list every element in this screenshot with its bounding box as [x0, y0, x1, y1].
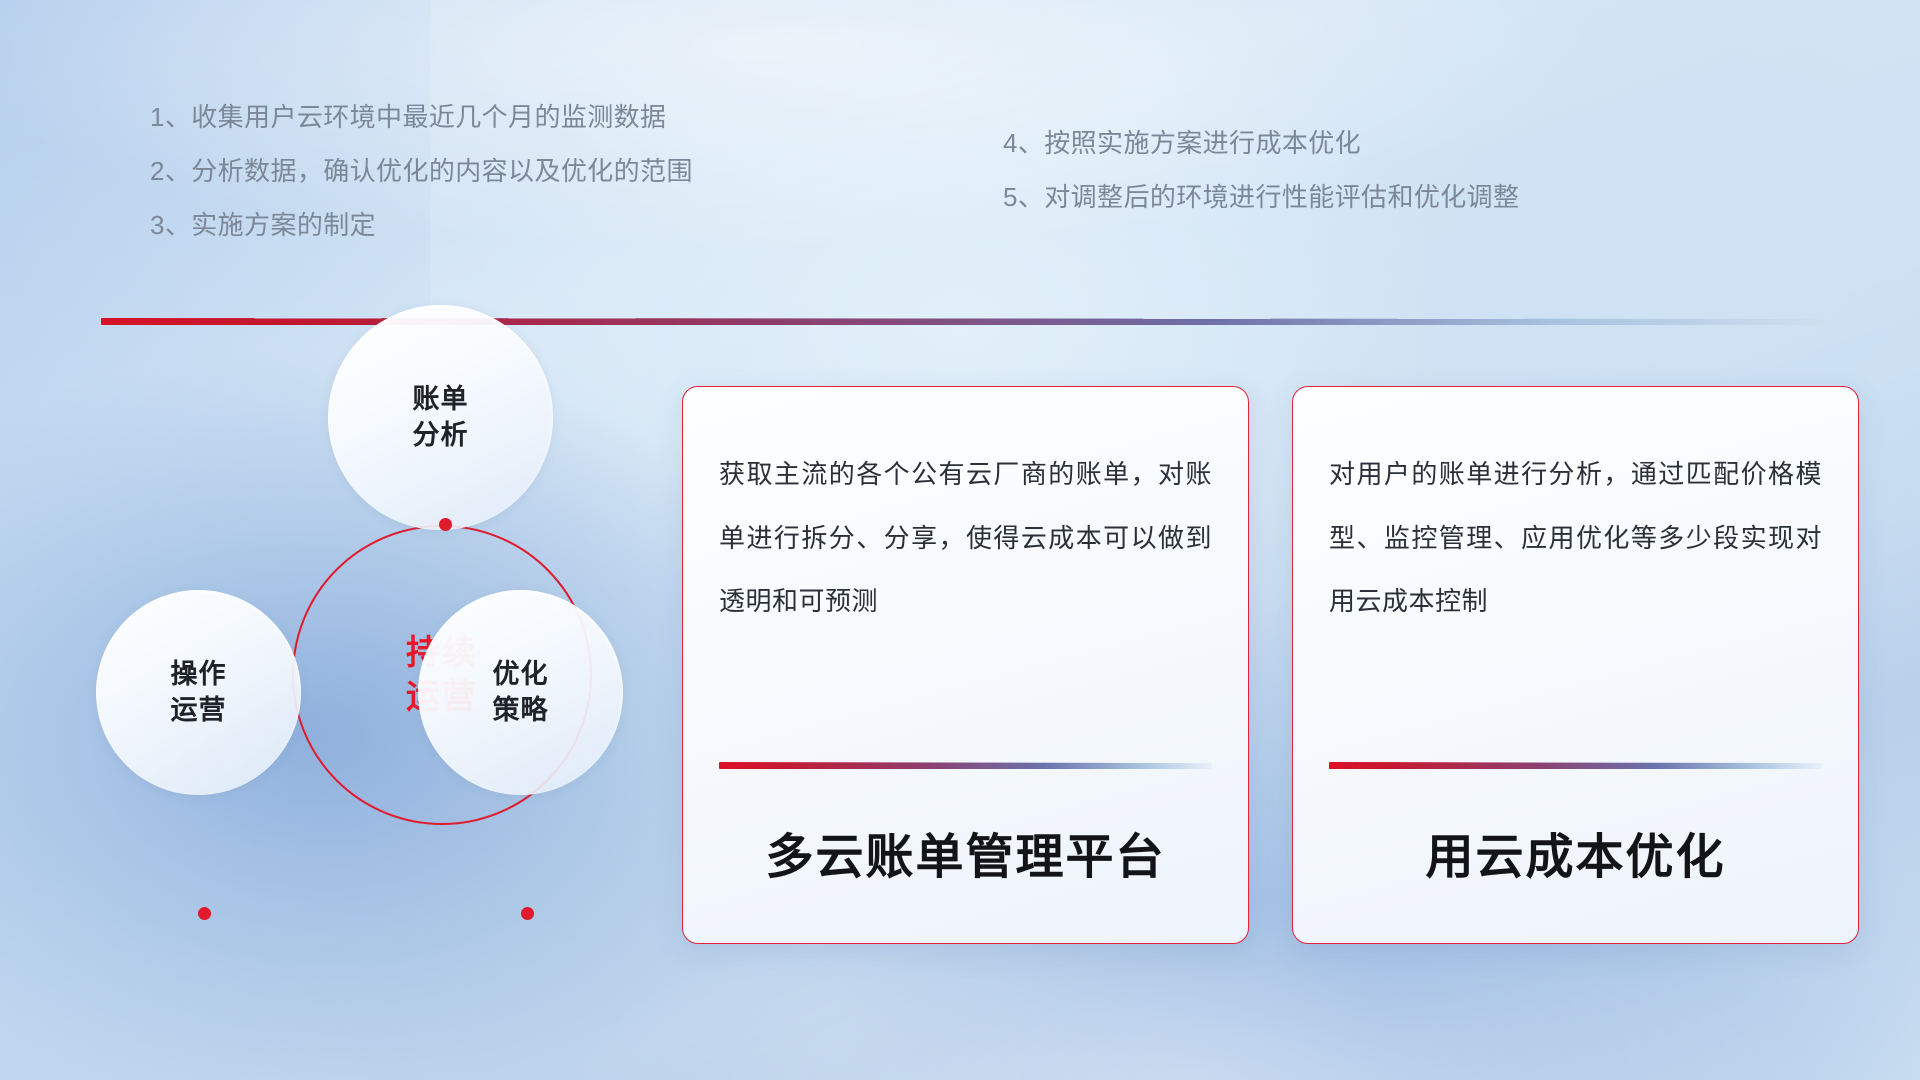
card-title: 多云账单管理平台: [719, 769, 1212, 943]
step-item-1: 1、收集用户云环境中最近几个月的监测数据: [150, 104, 693, 130]
card-multi-cloud-billing[interactable]: 获取主流的各个公有云厂商的账单，对账单进行拆分、分享，使得云成本可以做到透明和可…: [682, 386, 1249, 944]
continuous-operation-diagram: 持续运营 账单分析 操作运营 优化策略: [96, 355, 656, 955]
card-divider-rule: [1329, 762, 1822, 769]
ring-node-bottom-right-dot: [521, 907, 534, 920]
card-body-text: 对用户的账单进行分析，通过匹配价格模型、监控管理、应用优化等多少段实现对用云成本…: [1329, 443, 1822, 634]
card-title: 用云成本优化: [1329, 769, 1822, 943]
bubble-operation-running[interactable]: 操作运营: [96, 590, 301, 795]
bubble-label: 优化策略: [493, 657, 549, 728]
card-cloud-cost-optimization[interactable]: 对用户的账单进行分析，通过匹配价格模型、监控管理、应用优化等多少段实现对用云成本…: [1292, 386, 1859, 944]
step-item-3: 3、实施方案的制定: [150, 212, 693, 238]
steps-list-left: 1、收集用户云环境中最近几个月的监测数据 2、分析数据，确认优化的内容以及优化的…: [150, 104, 693, 266]
bubble-label: 操作运营: [171, 657, 227, 728]
bubble-optimization-policy[interactable]: 优化策略: [418, 590, 623, 795]
bubble-bill-analysis[interactable]: 账单分析: [328, 305, 553, 530]
card-divider-rule: [719, 762, 1212, 769]
step-item-5: 5、对调整后的环境进行性能评估和优化调整: [1003, 184, 1519, 210]
bubble-label: 账单分析: [413, 382, 469, 453]
step-item-4: 4、按照实施方案进行成本优化: [1003, 130, 1519, 156]
steps-list-right: 4、按照实施方案进行成本优化 5、对调整后的环境进行性能评估和优化调整: [1003, 130, 1519, 238]
section-divider-rule: [101, 318, 1829, 325]
ring-node-top-dot: [439, 518, 452, 531]
ring-node-bottom-left-dot: [198, 907, 211, 920]
step-item-2: 2、分析数据，确认优化的内容以及优化的范围: [150, 158, 693, 184]
card-body-text: 获取主流的各个公有云厂商的账单，对账单进行拆分、分享，使得云成本可以做到透明和可…: [719, 443, 1212, 634]
